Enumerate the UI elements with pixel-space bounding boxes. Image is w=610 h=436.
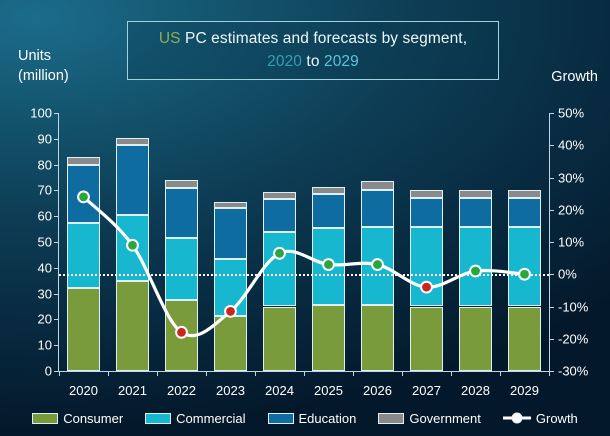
education-swatch bbox=[268, 413, 294, 424]
bar-segment-consumer[interactable] bbox=[410, 307, 443, 372]
bar-segment-commercial[interactable] bbox=[508, 227, 541, 307]
bar-segment-consumer[interactable] bbox=[165, 300, 198, 371]
bar-segment-education[interactable] bbox=[116, 145, 149, 215]
x-tick-mark bbox=[304, 371, 305, 376]
bar-segment-government[interactable] bbox=[214, 202, 247, 208]
legend-item-growth[interactable]: Growth bbox=[503, 411, 578, 426]
chart-title-rest: PC estimates and forecasts by segment, bbox=[181, 30, 467, 47]
right-tick-mark bbox=[549, 307, 554, 308]
left-tick-label: 10 bbox=[38, 338, 52, 353]
right-tick-mark bbox=[549, 113, 554, 114]
left-tick-mark bbox=[54, 190, 59, 191]
x-axis-label: 2029 bbox=[510, 383, 539, 398]
legend-item-education[interactable]: Education bbox=[268, 411, 357, 426]
growth-line-swatch bbox=[503, 413, 531, 424]
bar-segment-government[interactable] bbox=[410, 190, 443, 198]
left-tick-label: 80 bbox=[38, 157, 52, 172]
bar-segment-commercial[interactable] bbox=[67, 223, 100, 289]
bar-stack[interactable] bbox=[508, 113, 541, 371]
x-axis-label: 2020 bbox=[69, 383, 98, 398]
bar-segment-education[interactable] bbox=[165, 188, 198, 238]
legend-item-commercial[interactable]: Commercial bbox=[145, 411, 245, 426]
left-tick-mark bbox=[54, 242, 59, 243]
bar-segment-education[interactable] bbox=[312, 194, 345, 228]
right-tick-mark bbox=[549, 210, 554, 211]
right-tick-label: 20% bbox=[558, 202, 584, 217]
left-axis-title-line-2: (million) bbox=[18, 67, 69, 87]
left-tick-label: 0 bbox=[45, 364, 52, 379]
right-tick-label: 50% bbox=[558, 106, 584, 121]
left-axis-title: Units (million) bbox=[18, 47, 69, 86]
chart-title-line-2: 2020 to 2029 bbox=[267, 51, 359, 73]
right-tick-label: -10% bbox=[558, 299, 588, 314]
right-tick-label: 40% bbox=[558, 138, 584, 153]
bar-segment-education[interactable] bbox=[459, 198, 492, 226]
bar-segment-consumer[interactable] bbox=[361, 305, 394, 371]
left-tick-mark bbox=[54, 165, 59, 166]
chart-title-us: US bbox=[159, 30, 181, 47]
legend-label: Commercial bbox=[176, 411, 245, 426]
x-tick-mark bbox=[402, 371, 403, 376]
chart-legend: ConsumerCommercialEducationGovernmentGro… bbox=[28, 406, 582, 430]
bar-stack[interactable] bbox=[116, 113, 149, 371]
left-tick-mark bbox=[54, 139, 59, 140]
right-tick-label: 0% bbox=[558, 267, 577, 282]
bar-segment-commercial[interactable] bbox=[459, 227, 492, 307]
left-tick-label: 70 bbox=[38, 183, 52, 198]
bar-stack[interactable] bbox=[410, 113, 443, 371]
left-tick-label: 60 bbox=[38, 209, 52, 224]
left-axis-title-line-1: Units bbox=[18, 47, 69, 67]
left-tick-label: 100 bbox=[30, 106, 52, 121]
bar-segment-education[interactable] bbox=[410, 198, 443, 226]
bar-segment-consumer[interactable] bbox=[459, 307, 492, 372]
bar-segment-government[interactable] bbox=[263, 192, 296, 200]
bar-segment-education[interactable] bbox=[214, 208, 247, 258]
bar-segment-government[interactable] bbox=[459, 190, 492, 198]
bar-segment-commercial[interactable] bbox=[165, 238, 198, 300]
bar-segment-education[interactable] bbox=[361, 190, 394, 226]
bar-segment-commercial[interactable] bbox=[410, 227, 443, 307]
right-tick-label: -20% bbox=[558, 331, 588, 346]
x-tick-mark bbox=[353, 371, 354, 376]
left-tick-label: 30 bbox=[38, 286, 52, 301]
chart-canvas: US PC estimates and forecasts by segment… bbox=[0, 0, 610, 436]
legend-label: Education bbox=[299, 411, 357, 426]
x-axis-label: 2022 bbox=[167, 383, 196, 398]
bar-segment-commercial[interactable] bbox=[361, 227, 394, 306]
bar-segment-consumer[interactable] bbox=[67, 288, 100, 371]
right-axis-title: Growth bbox=[551, 68, 598, 88]
bar-stack[interactable] bbox=[459, 113, 492, 371]
right-tick-mark bbox=[549, 274, 554, 275]
left-tick-label: 50 bbox=[38, 235, 52, 250]
chart-title-box: US PC estimates and forecasts by segment… bbox=[127, 21, 499, 80]
bar-segment-consumer[interactable] bbox=[263, 307, 296, 372]
x-tick-mark bbox=[255, 371, 256, 376]
bar-stack[interactable] bbox=[361, 113, 394, 371]
legend-item-government[interactable]: Government bbox=[378, 411, 481, 426]
plot-area: 0102030405060708090100 -30%-20%-10%0%10%… bbox=[59, 113, 549, 371]
bar-segment-education[interactable] bbox=[263, 199, 296, 231]
left-tick-mark bbox=[54, 113, 59, 114]
bar-segment-commercial[interactable] bbox=[116, 215, 149, 281]
x-axis-label: 2025 bbox=[314, 383, 343, 398]
bar-segment-consumer[interactable] bbox=[214, 316, 247, 371]
bar-stack[interactable] bbox=[165, 113, 198, 371]
left-tick-label: 90 bbox=[38, 131, 52, 146]
x-axis-label: 2027 bbox=[412, 383, 441, 398]
right-tick-label: 30% bbox=[558, 170, 584, 185]
government-swatch bbox=[378, 413, 404, 424]
bar-segment-government[interactable] bbox=[508, 190, 541, 198]
legend-label: Growth bbox=[536, 411, 578, 426]
left-tick-label: 20 bbox=[38, 312, 52, 327]
x-tick-mark bbox=[59, 371, 60, 376]
bar-segment-commercial[interactable] bbox=[263, 232, 296, 307]
bar-segment-commercial[interactable] bbox=[214, 259, 247, 316]
x-tick-mark bbox=[451, 371, 452, 376]
left-tick-label: 40 bbox=[38, 260, 52, 275]
right-tick-label: -30% bbox=[558, 364, 588, 379]
bar-segment-consumer[interactable] bbox=[116, 281, 149, 371]
left-tick-mark bbox=[54, 268, 59, 269]
bar-segment-commercial[interactable] bbox=[312, 228, 345, 305]
bar-segment-education[interactable] bbox=[508, 198, 541, 226]
x-tick-mark bbox=[108, 371, 109, 376]
bar-segment-education[interactable] bbox=[67, 165, 100, 223]
bar-stack[interactable] bbox=[263, 113, 296, 371]
chart-title-year-end: 2029 bbox=[324, 53, 359, 70]
legend-item-consumer[interactable]: Consumer bbox=[32, 411, 123, 426]
left-tick-mark bbox=[54, 216, 59, 217]
x-axis-label: 2028 bbox=[461, 383, 490, 398]
bar-segment-consumer[interactable] bbox=[508, 307, 541, 372]
right-tick-label: 10% bbox=[558, 235, 584, 250]
right-tick-mark bbox=[549, 178, 554, 179]
x-tick-mark bbox=[500, 371, 501, 376]
x-tick-mark bbox=[157, 371, 158, 376]
bar-stack[interactable] bbox=[214, 113, 247, 371]
x-axis-label: 2021 bbox=[118, 383, 147, 398]
chart-title-connector: to bbox=[302, 53, 324, 70]
legend-label: Government bbox=[409, 411, 481, 426]
zero-reference-line bbox=[59, 274, 549, 276]
commercial-swatch bbox=[145, 413, 171, 424]
chart-title-year-start: 2020 bbox=[267, 53, 302, 70]
consumer-swatch bbox=[32, 413, 58, 424]
right-tick-mark bbox=[549, 145, 554, 146]
left-tick-mark bbox=[54, 319, 59, 320]
x-tick-mark bbox=[206, 371, 207, 376]
bar-stack[interactable] bbox=[312, 113, 345, 371]
x-tick-mark bbox=[549, 371, 550, 376]
left-tick-mark bbox=[54, 345, 59, 346]
x-axis-label: 2026 bbox=[363, 383, 392, 398]
x-axis-label: 2023 bbox=[216, 383, 245, 398]
left-tick-mark bbox=[54, 294, 59, 295]
legend-label: Consumer bbox=[63, 411, 123, 426]
bar-stack[interactable] bbox=[67, 113, 100, 371]
growth-marker-swatch bbox=[511, 413, 522, 424]
bar-segment-government[interactable] bbox=[312, 187, 345, 195]
bar-segment-government[interactable] bbox=[67, 157, 100, 165]
right-tick-mark bbox=[549, 242, 554, 243]
chart-title-line-1: US PC estimates and forecasts by segment… bbox=[159, 28, 467, 50]
bar-segment-consumer[interactable] bbox=[312, 305, 345, 371]
bar-segment-government[interactable] bbox=[165, 180, 198, 188]
bar-segment-government[interactable] bbox=[116, 138, 149, 146]
bar-segment-government[interactable] bbox=[361, 181, 394, 190]
right-tick-mark bbox=[549, 339, 554, 340]
x-axis-label: 2024 bbox=[265, 383, 294, 398]
